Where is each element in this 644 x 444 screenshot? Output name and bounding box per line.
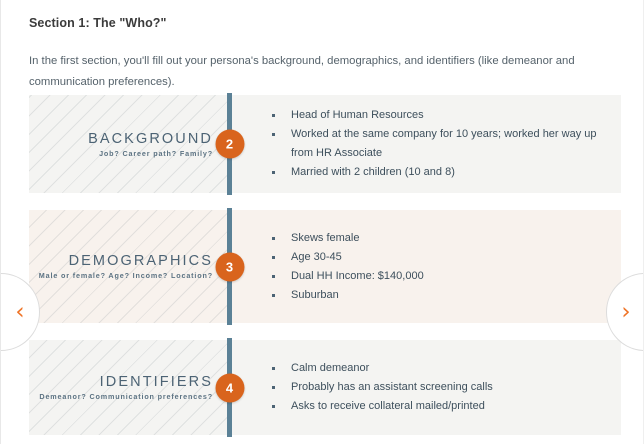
list-item: Calm demeanor (269, 359, 621, 378)
card-step-badge: 2 (215, 130, 244, 159)
card-label-panel: IDENTIFIERS Demeanor? Communication pref… (29, 340, 227, 435)
card-bullet-list: Skews female Age 30-45 Dual HH Income: $… (251, 229, 621, 305)
card-label-panel: BACKGROUND Job? Career path? Family? (29, 95, 227, 193)
persona-card-demographics: DEMOGRAPHICS Male or female? Age? Income… (29, 210, 621, 323)
list-item: Age 30-45 (269, 248, 621, 267)
page-container: Section 1: The "Who?" In the first secti… (0, 0, 644, 444)
chevron-right-icon: › (621, 301, 630, 324)
card-step-badge: 3 (215, 252, 244, 281)
card-subtitle: Job? Career path? Family? (99, 149, 213, 158)
persona-card-identifiers: IDENTIFIERS Demeanor? Communication pref… (29, 340, 621, 435)
card-title: BACKGROUND (88, 131, 213, 147)
card-bullet-list: Head of Human Resources Worked at the sa… (251, 106, 621, 182)
card-body: Calm demeanor Probably has an assistant … (227, 340, 621, 435)
list-item: Head of Human Resources (269, 106, 621, 125)
card-title: IDENTIFIERS (100, 374, 213, 390)
list-item: Suburban (269, 286, 621, 305)
card-step-badge: 4 (215, 373, 244, 402)
persona-carousel: BACKGROUND Job? Career path? Family? 2 H… (1, 88, 644, 444)
card-title: DEMOGRAPHICS (69, 253, 213, 269)
card-body: Skews female Age 30-45 Dual HH Income: $… (227, 210, 621, 323)
list-item: Asks to receive collateral mailed/printe… (269, 397, 621, 416)
list-item: Probably has an assistant screening call… (269, 378, 621, 397)
card-subtitle: Demeanor? Communication preferences? (39, 392, 213, 401)
list-item: Worked at the same company for 10 years;… (269, 125, 621, 163)
list-item: Skews female (269, 229, 621, 248)
persona-card-background: BACKGROUND Job? Career path? Family? 2 H… (29, 95, 621, 193)
card-subtitle: Male or female? Age? Income? Location? (39, 271, 213, 280)
page-title: Section 1: The "Who?" (29, 16, 167, 30)
list-item: Married with 2 children (10 and 8) (269, 163, 621, 182)
card-bullet-list: Calm demeanor Probably has an assistant … (251, 359, 621, 416)
card-label-panel: DEMOGRAPHICS Male or female? Age? Income… (29, 210, 227, 323)
card-body: Head of Human Resources Worked at the sa… (227, 95, 621, 193)
section-intro-text: In the first section, you'll fill out yo… (29, 51, 609, 93)
chevron-left-icon: ‹ (15, 301, 24, 324)
list-item: Dual HH Income: $140,000 (269, 267, 621, 286)
